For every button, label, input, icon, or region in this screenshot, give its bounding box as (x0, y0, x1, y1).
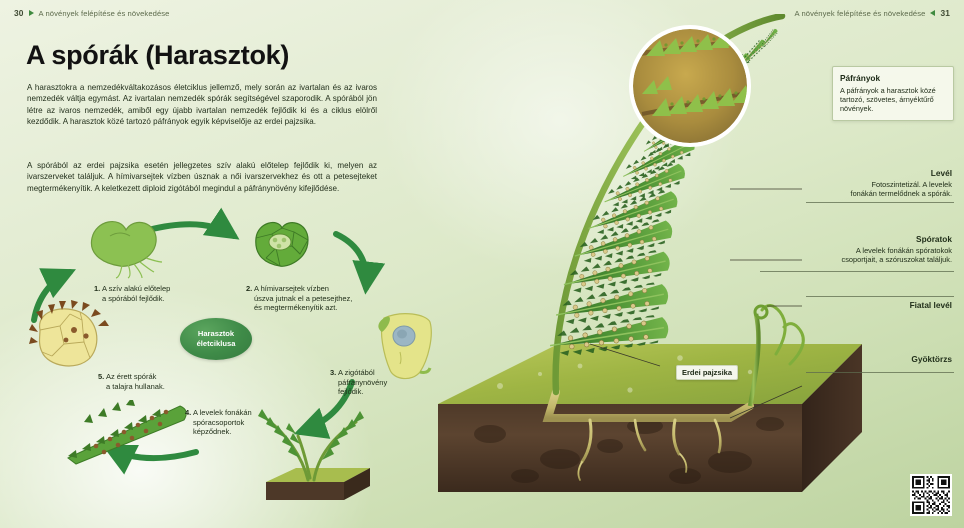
note-box-pafranyok: Páfrányok A páfrányok a harasztok közé t… (832, 66, 954, 121)
fern-sori-closeup-photograph (630, 24, 754, 150)
life-cycle-diagram: Harasztok életciklusa 1. A szív alakú el… (0, 200, 460, 528)
callout-level-desc-1: Fotoszintetizál. A levelek (784, 180, 952, 189)
cycle-step-5: 5. Az érett spórák a talajra hullanak. (98, 372, 165, 391)
callout-level-desc-2: fonákán termelődnek a spórák. (784, 189, 952, 198)
cycle-step-2-number: 2. (246, 284, 252, 293)
callout-sporatok-desc-1: A levelek fonákán spóratokok (752, 246, 952, 255)
callout-rule-sporatok (760, 271, 954, 272)
callout-gyoktorzs-title: Gyöktörzs (802, 354, 952, 364)
textbook-spread: 30 A növények felépítése és növekedése A… (0, 0, 964, 528)
body-paragraph-1: A harasztokra a nemzedékváltakozásos éle… (27, 82, 377, 128)
cycle-step-5-line-1: Az érett spórák (106, 372, 156, 381)
cycle-step-2-line-2: úszva jutnak el a petesejthez, (246, 294, 352, 303)
callout-rule-gyoktorzs (806, 372, 954, 373)
triangle-right-icon (29, 10, 34, 16)
cycle-hub-line-1: Harasztok (198, 329, 234, 339)
callout-level: Levél Fotoszintetizál. A levelek fonákán… (784, 168, 952, 199)
cycle-step-3-line-1: A zigótából (338, 368, 375, 377)
cycle-step-3: 3. A zigótából páfránynövény fejlődik. (330, 368, 387, 397)
cycle-step-1-line-2: a spórából fejlődik. (94, 294, 165, 303)
cycle-hub-label: Harasztok életciklusa (180, 318, 252, 360)
cycle-step-4-line-2: spóracsoportok (185, 418, 244, 427)
arrow-2-to-3 (336, 234, 366, 288)
sporangium-releasing-spores-illustration (26, 300, 120, 374)
callout-rule-fiatal-level (806, 296, 954, 297)
prothallus-cells-archegonium-illustration (248, 216, 316, 276)
specimen-tag-erdei-pajzsika: Erdei pajzsika (676, 365, 738, 380)
cycle-step-4-number: 4. (185, 408, 191, 417)
cycle-step-4-line-3: képződnek. (185, 427, 231, 436)
note-box-text: A páfrányok a harasztok közé tartozó, sz… (840, 86, 946, 114)
crozier-tip (755, 306, 767, 318)
running-head-left-label: A növények felépítése és növekedése (39, 9, 170, 18)
cycle-step-3-number: 3. (330, 368, 336, 377)
running-head-left: 30 A növények felépítése és növekedése (14, 8, 170, 18)
callout-sporatok-title: Spóratok (752, 234, 952, 244)
cycle-step-1-number: 1. (94, 284, 100, 293)
cycle-hub-line-2: életciklusa (197, 339, 236, 349)
note-box-title: Páfrányok (840, 73, 946, 83)
callout-fiatal-level: Fiatal levél (802, 300, 952, 312)
body-paragraph-2: A spórából az erdei pajzsika esetén jell… (27, 160, 377, 194)
callout-level-title: Levél (784, 168, 952, 178)
page-number-left: 30 (14, 8, 24, 18)
callout-sporatok: Spóratok A levelek fonákán spóratokok cs… (752, 234, 952, 265)
fern-pinna-with-sori-illustration (60, 400, 196, 466)
qr-code[interactable] (910, 474, 952, 516)
page-title: A spórák (Harasztok) (26, 40, 289, 71)
cycle-step-5-number: 5. (98, 372, 104, 381)
cycle-step-4: 4. A levelek fonákán spóracsoportok képz… (185, 408, 252, 437)
cycle-step-1: 1. A szív alakú előtelep a spórából fejl… (94, 284, 170, 303)
young-sporophyte-illustration (252, 400, 382, 510)
cycle-step-5-line-2: a talajra hullanak. (98, 382, 165, 391)
callout-sporatok-desc-2: csoportjait, a szóruszokat találjuk. (752, 255, 952, 264)
cycle-step-3-line-2: páfránynövény (330, 378, 387, 387)
cycle-step-1-line-1: A szív alakú előtelep (102, 284, 170, 293)
cycle-step-3-line-3: fejlődik. (330, 387, 363, 396)
cycle-step-2-line-3: és megtermékenyítik azt. (246, 303, 337, 312)
cycle-step-2-line-1: A hímivarsejtek vízben (254, 284, 329, 293)
callout-gyoktorzs: Gyöktörzs (802, 354, 952, 366)
cycle-step-4-line-1: A levelek fonákán (193, 408, 252, 417)
cycle-step-2: 2. A hímivarsejtek vízben úszva jutnak e… (246, 284, 352, 313)
heart-shaped-prothallus-illustration (76, 214, 168, 280)
callout-fiatal-level-title: Fiatal levél (802, 300, 952, 310)
callout-rule-levels (806, 202, 954, 203)
